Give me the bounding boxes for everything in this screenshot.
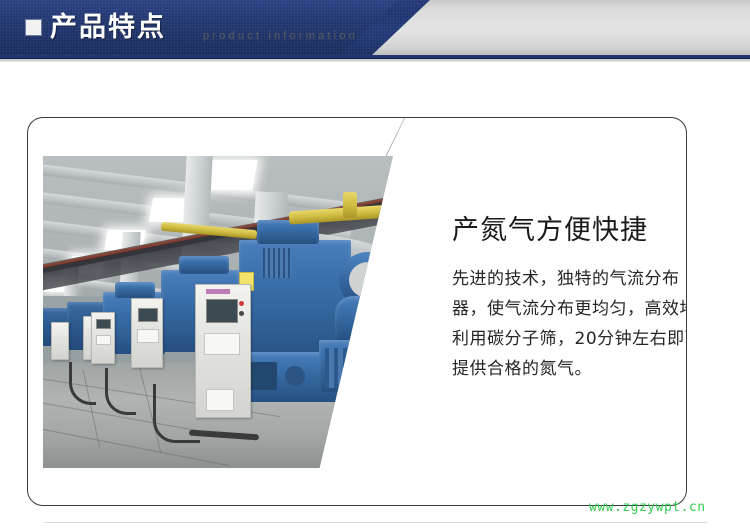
factory-photo bbox=[43, 156, 393, 468]
section-header-banner: 产品特点 product information bbox=[0, 0, 750, 62]
photo-control-cabinet bbox=[195, 284, 251, 418]
square-bullet-icon bbox=[26, 20, 41, 35]
feature-body-text: 先进的技术，独特的气流分布器，使气流分布更均匀，高效地利用碳分子筛，20分钟左右… bbox=[452, 264, 687, 384]
factory-photo-canvas bbox=[43, 156, 393, 468]
site-watermark: www.zgzywpt.cn bbox=[589, 500, 706, 515]
feature-card: 产氮气方便快捷 先进的技术，独特的气流分布器，使气流分布更均匀，高效地利用碳分子… bbox=[27, 117, 687, 506]
feature-headline: 产氮气方便快捷 bbox=[452, 214, 687, 248]
header-drop-shadow bbox=[0, 59, 750, 62]
feature-text-block: 产氮气方便快捷 先进的技术，独特的气流分布器，使气流分布更均匀，高效地利用碳分子… bbox=[452, 214, 687, 384]
header-subtitle: product information bbox=[203, 30, 358, 42]
page-title: 产品特点 bbox=[50, 9, 166, 47]
footer-divider bbox=[44, 522, 707, 523]
